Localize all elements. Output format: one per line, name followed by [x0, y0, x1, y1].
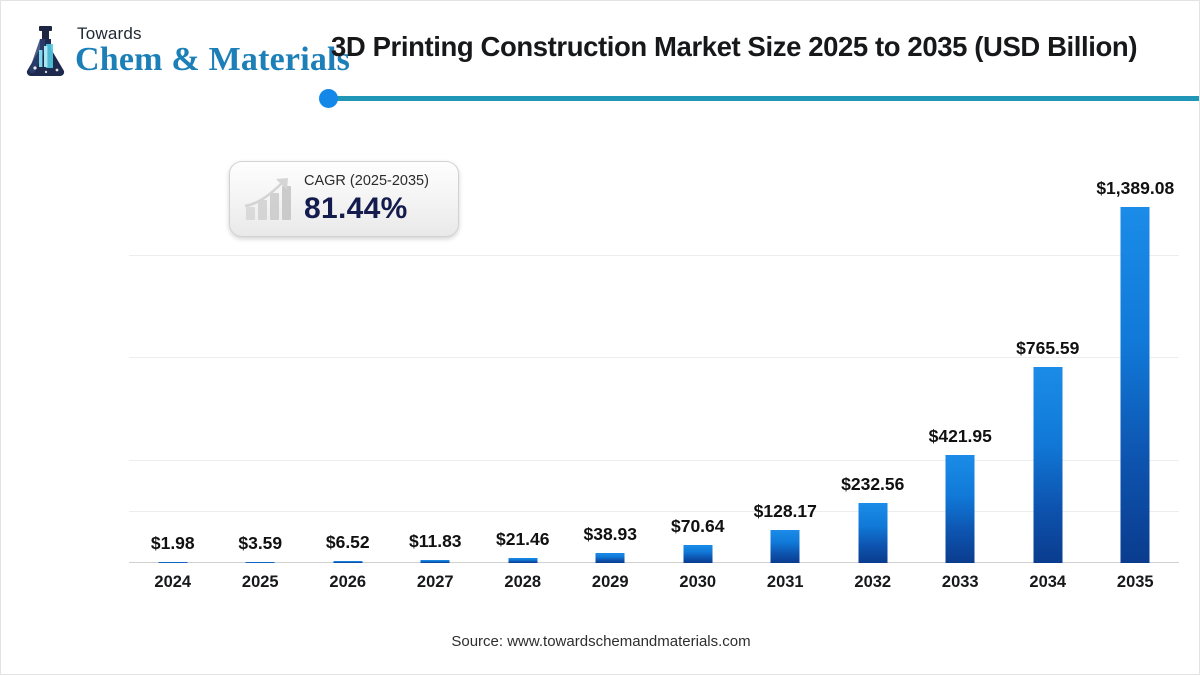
x-axis-tick-label: 2030: [679, 573, 716, 592]
bar-group[interactable]: $38.932029: [567, 153, 655, 563]
x-axis-tick-label: 2029: [592, 573, 629, 592]
x-axis-tick-label: 2025: [242, 573, 279, 592]
bar-value-label: $232.56: [841, 474, 904, 495]
bar-group[interactable]: $232.562032: [829, 153, 917, 563]
bar-value-label: $3.59: [238, 533, 282, 554]
x-axis-tick-label: 2035: [1117, 573, 1154, 592]
brand-line-2: Chem & Materials: [75, 43, 350, 77]
page-title: 3D Printing Construction Market Size 202…: [331, 31, 1191, 63]
bar[interactable]: [1121, 207, 1150, 563]
x-axis-tick-label: 2027: [417, 573, 454, 592]
cagr-text-block: CAGR (2025-2035) 81.44%: [304, 174, 429, 224]
header: Towards Chem & Materials 3D Printing Con…: [1, 1, 1200, 111]
bar-group[interactable]: $1,389.082035: [1092, 153, 1180, 563]
source-note: Source: www.towardschemandmaterials.com: [1, 633, 1200, 650]
bar[interactable]: [596, 553, 625, 563]
bar-value-label: $421.95: [929, 426, 992, 447]
bar-value-label: $70.64: [671, 516, 725, 537]
flask-icon: [19, 23, 71, 79]
bar-value-label: $11.83: [409, 531, 462, 552]
cagr-value: 81.44%: [304, 194, 429, 224]
bar[interactable]: [158, 562, 187, 564]
title-rule-dot-icon: [319, 89, 338, 108]
bar-value-label: $38.93: [583, 524, 637, 545]
bar[interactable]: [508, 558, 537, 563]
brand-wordmark: Towards Chem & Materials: [75, 25, 350, 77]
bar-group[interactable]: $1.982024: [129, 153, 217, 563]
bar-group[interactable]: $421.952033: [917, 153, 1005, 563]
growth-bar-chart-icon: [242, 175, 298, 223]
bar-value-label: $1.98: [151, 533, 195, 554]
brand-logo[interactable]: Towards Chem & Materials: [19, 23, 350, 79]
bar[interactable]: [421, 560, 450, 563]
cagr-caption: CAGR (2025-2035): [304, 174, 429, 189]
chart-page: Towards Chem & Materials 3D Printing Con…: [0, 0, 1200, 675]
bar-value-label: $128.17: [754, 501, 817, 522]
bar-value-label: $21.46: [496, 529, 550, 550]
bar[interactable]: [771, 530, 800, 563]
x-axis-tick-label: 2031: [767, 573, 804, 592]
x-axis-tick-label: 2026: [329, 573, 366, 592]
x-axis-tick-label: 2033: [942, 573, 979, 592]
x-axis-tick-label: 2024: [154, 573, 191, 592]
bar-value-label: $1,389.08: [1096, 178, 1174, 199]
bar-group[interactable]: $765.592034: [1004, 153, 1092, 563]
x-axis-tick-label: 2032: [854, 573, 891, 592]
bar[interactable]: [683, 545, 712, 563]
bar[interactable]: [1033, 367, 1062, 563]
bar-group[interactable]: $70.642030: [654, 153, 742, 563]
bar-group[interactable]: $21.462028: [479, 153, 567, 563]
x-axis-tick-label: 2028: [504, 573, 541, 592]
bar[interactable]: [246, 562, 275, 564]
bar-value-label: $765.59: [1016, 338, 1079, 359]
x-axis-tick-label: 2034: [1029, 573, 1066, 592]
title-underline-rule: [323, 96, 1200, 101]
bar[interactable]: [858, 503, 887, 563]
brand-line-1: Towards: [75, 25, 350, 42]
bar-group[interactable]: $128.172031: [742, 153, 830, 563]
bar-value-label: $6.52: [326, 532, 370, 553]
bar[interactable]: [946, 455, 975, 563]
cagr-badge: CAGR (2025-2035) 81.44%: [229, 161, 459, 237]
bar[interactable]: [333, 561, 362, 563]
